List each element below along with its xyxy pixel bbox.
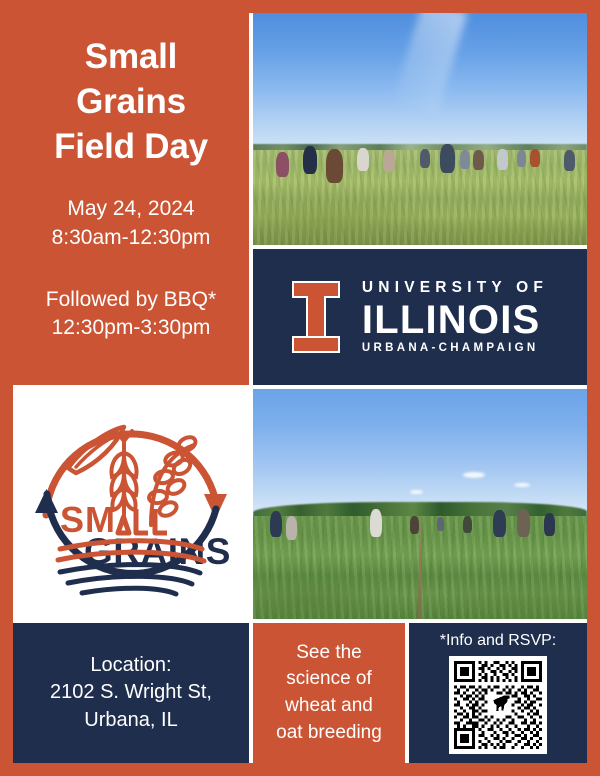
event-date-time: May 24, 2024 8:30am-12:30pm: [52, 195, 211, 252]
flyer-inner: Small Grains Field Day May 24, 2024 8:30…: [13, 13, 587, 763]
person-figure: [326, 149, 343, 183]
person-figure: [463, 516, 472, 533]
person-figure: [517, 150, 526, 167]
university-line-1: UNIVERSITY OF: [362, 280, 548, 296]
science-line-1: See the: [276, 640, 382, 667]
science-line-2: science of: [276, 666, 382, 693]
qr-code-icon[interactable]: [449, 656, 547, 754]
bbq-info: Followed by BBQ* 12:30pm-3:30pm: [46, 286, 216, 343]
location-text: Location: 2102 S. Wright St, Urbana, IL: [50, 652, 212, 735]
title-line-3: Field Day: [54, 125, 208, 170]
person-figure: [564, 150, 575, 171]
title-panel: Small Grains Field Day May 24, 2024 8:30…: [13, 13, 249, 385]
person-figure: [493, 510, 506, 537]
block-i-icon: [292, 281, 340, 353]
person-figure: [383, 150, 395, 172]
title-line-2: Grains: [54, 80, 208, 125]
person-figure: [440, 144, 455, 173]
wheat-field-photo: [253, 13, 587, 245]
flyer-root: Small Grains Field Day May 24, 2024 8:30…: [0, 0, 600, 776]
person-figure: [303, 146, 317, 174]
person-figure: [276, 152, 289, 177]
rsvp-box: *Info and RSVP:: [409, 623, 587, 763]
person-figure: [370, 509, 382, 537]
small-grains-logo-panel: SM GRAINS: [13, 389, 249, 619]
person-figure: [437, 517, 444, 531]
location-label: Location:: [50, 652, 212, 680]
cloud: [463, 472, 485, 478]
science-line-4: oat breeding: [276, 720, 382, 747]
person-figure: [286, 516, 297, 540]
location-city: Urbana, IL: [50, 707, 212, 735]
science-text: See the science of wheat and oat breedin…: [276, 640, 382, 746]
event-date: May 24, 2024: [52, 195, 211, 223]
small-grains-logo-icon: SM GRAINS: [24, 397, 238, 611]
sky: [253, 389, 587, 516]
university-logo-bar: UNIVERSITY OF ILLINOIS URBANA-CHAMPAIGN: [253, 249, 587, 385]
science-blurb-box: See the science of wheat and oat breedin…: [253, 623, 405, 763]
bbq-time: 12:30pm-3:30pm: [46, 314, 216, 342]
person-figure: [460, 150, 470, 169]
person-figure: [497, 149, 508, 170]
rsvp-label: *Info and RSVP:: [440, 632, 557, 650]
page-title: Small Grains Field Day: [54, 35, 208, 169]
person-figure: [420, 149, 430, 168]
person-figure: [517, 509, 530, 537]
person-figure: [544, 513, 555, 536]
oat-field-photo: [253, 389, 587, 619]
location-street: 2102 S. Wright St,: [50, 679, 212, 707]
university-line-2: ILLINOIS: [362, 299, 548, 341]
person-figure: [473, 150, 484, 170]
person-figure: [270, 511, 282, 537]
university-wordmark: UNIVERSITY OF ILLINOIS URBANA-CHAMPAIGN: [362, 280, 548, 354]
event-time: 8:30am-12:30pm: [52, 224, 211, 252]
university-line-3: URBANA-CHAMPAIGN: [362, 343, 548, 355]
title-line-1: Small: [54, 35, 208, 80]
person-figure: [530, 149, 540, 167]
science-line-3: wheat and: [276, 693, 382, 720]
person-figure: [410, 516, 419, 534]
bbq-label: Followed by BBQ*: [46, 286, 216, 314]
person-figure: [357, 148, 369, 171]
location-box: Location: 2102 S. Wright St, Urbana, IL: [13, 623, 249, 763]
